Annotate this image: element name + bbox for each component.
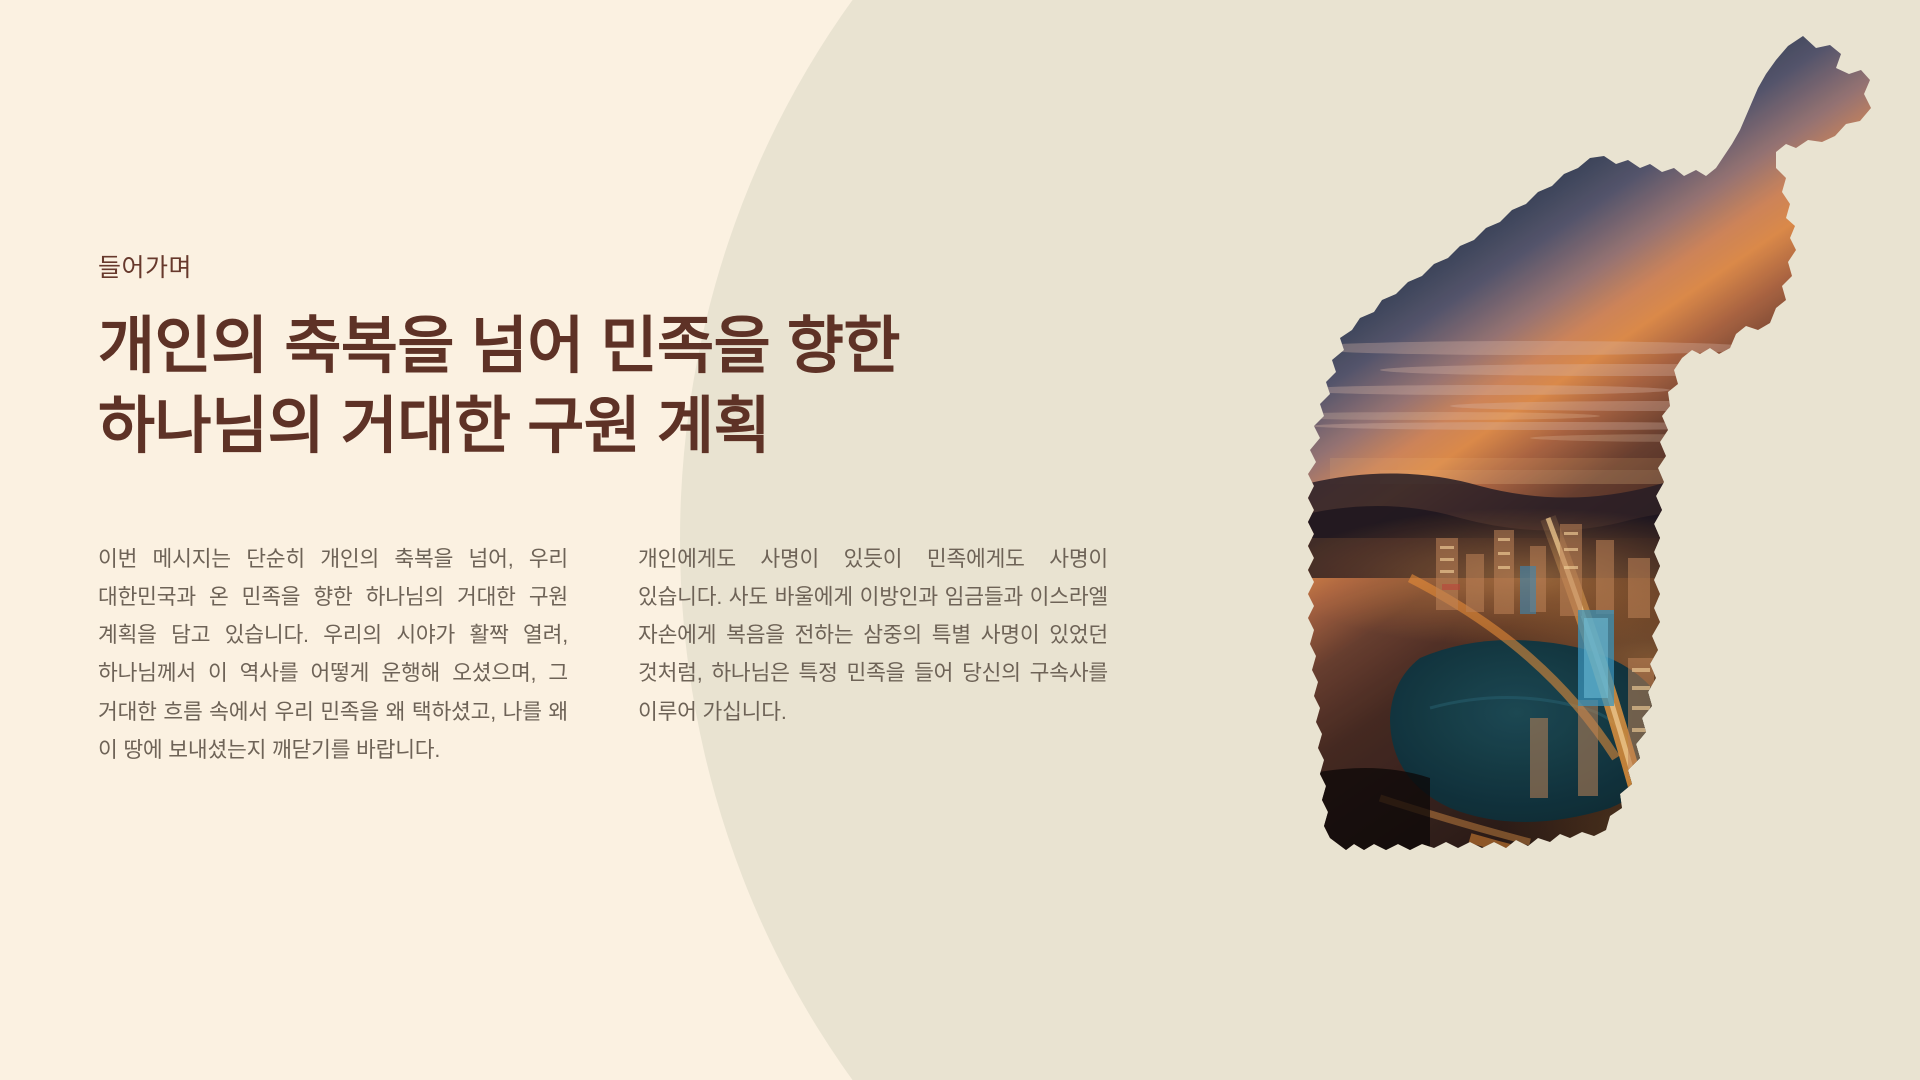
body-paragraph-left: 이번 메시지는 단순히 개인의 축복을 넘어, 우리 대한민국과 온 민족을 향… [98, 540, 568, 770]
body-column-right: 개인에게도 사명이 있듯이 민족에게도 사명이 있습니다. 사도 바울에게 이방… [638, 540, 1108, 770]
map-photo-fill [1230, 18, 1920, 1080]
page-title: 개인의 축복을 넘어 민족을 향한 하나님의 거대한 구원 계획 [98, 307, 1108, 468]
southern-shadow [1290, 870, 1870, 1080]
korean-peninsula-map-svg [1230, 18, 1920, 1080]
body-column-left: 이번 메시지는 단순히 개인의 축복을 넘어, 우리 대한민국과 온 민족을 향… [98, 540, 568, 770]
eyebrow-label: 들어가며 [98, 252, 1108, 285]
headline-line-2: 하나님의 거대한 구원 계획 [98, 387, 1108, 468]
body-columns: 이번 메시지는 단순히 개인의 축복을 넘어, 우리 대한민국과 온 민족을 향… [98, 540, 1108, 770]
korean-peninsula-artwork [1230, 18, 1920, 1080]
body-paragraph-right: 개인에게도 사명이 있듯이 민족에게도 사명이 있습니다. 사도 바울에게 이방… [638, 540, 1108, 731]
headline-line-1: 개인의 축복을 넘어 민족을 향한 [98, 307, 1108, 388]
presentation-slide: 들어가며 개인의 축복을 넘어 민족을 향한 하나님의 거대한 구원 계획 이번… [0, 0, 1920, 1080]
slide-text-column: 들어가며 개인의 축복을 넘어 민족을 향한 하나님의 거대한 구원 계획 이번… [98, 252, 1108, 769]
